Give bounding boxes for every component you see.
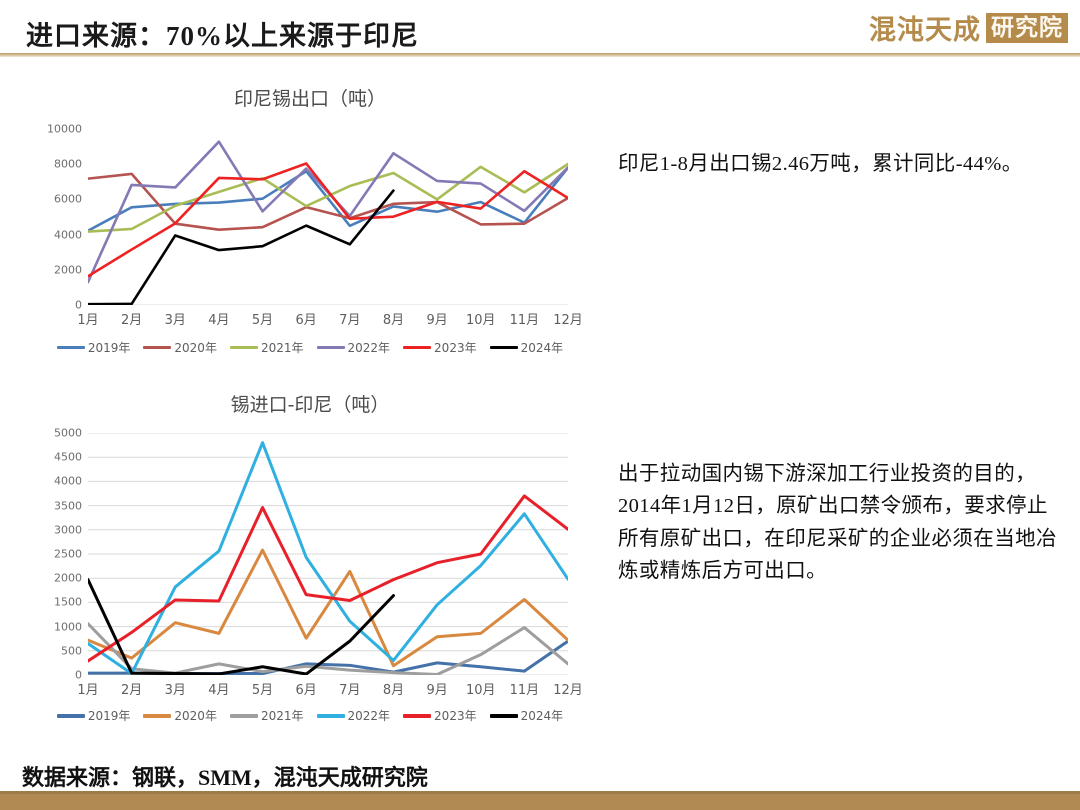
series-line-2020年: [88, 174, 568, 230]
legend-item-2023年[interactable]: 2023年: [403, 339, 477, 356]
x-axis-tick-label: 2月: [121, 305, 142, 328]
legend-item-2022年[interactable]: 2022年: [317, 339, 391, 356]
legend-swatch-icon: [317, 346, 345, 349]
y-axis-tick-label: 1000: [54, 620, 88, 633]
x-axis-tick-label: 7月: [339, 675, 360, 698]
y-axis-tick-label: 500: [61, 644, 88, 657]
x-axis-tick-label: 9月: [426, 675, 447, 698]
commentary-ore-export-ban: 出于拉动国内锡下游深加工行业投资的目的，2014年1月12日，原矿出口禁令颁布，…: [618, 458, 1058, 588]
x-axis-tick-label: 8月: [383, 305, 404, 328]
x-axis-tick-label: 5月: [252, 305, 273, 328]
plot-svg: [88, 129, 568, 305]
x-axis-tick-label: 7月: [339, 305, 360, 328]
y-axis-tick-label: 1500: [54, 596, 88, 609]
x-axis-tick-label: 3月: [165, 675, 186, 698]
x-axis-tick-label: 6月: [296, 305, 317, 328]
legend-swatch-icon: [490, 714, 518, 718]
legend-item-2021年[interactable]: 2021年: [230, 339, 304, 356]
legend-item-2023年[interactable]: 2023年: [403, 707, 477, 724]
chart-title: 印尼锡出口（吨）: [30, 84, 590, 111]
legend-label: 2023年: [434, 339, 477, 356]
legend-swatch-icon: [143, 346, 171, 349]
legend-swatch-icon: [490, 346, 518, 349]
plot-svg: [88, 433, 568, 675]
legend-item-2020年[interactable]: 2020年: [143, 339, 217, 356]
legend-label: 2020年: [174, 707, 217, 724]
x-axis-tick-label: 6月: [296, 675, 317, 698]
chart-title: 锡进口-印尼（吨）: [30, 390, 590, 417]
y-axis-tick-label: 3000: [54, 523, 88, 536]
series-line-2020年: [88, 550, 568, 666]
x-axis-tick-label: 1月: [77, 675, 98, 698]
y-axis-tick-label: 5000: [54, 427, 88, 440]
slide-header: 进口来源：70%以上来源于印尼 混沌天成 研究院: [0, 0, 1080, 56]
slide-root: 进口来源：70%以上来源于印尼 混沌天成 研究院 印尼锡出口（吨） 020004…: [0, 0, 1080, 810]
page-title: 进口来源：70%以上来源于印尼: [26, 14, 419, 53]
legend-label: 2022年: [348, 339, 391, 356]
y-axis-tick-label: 8000: [54, 158, 88, 171]
legend-swatch-icon: [230, 346, 258, 349]
legend-item-2019年[interactable]: 2019年: [57, 339, 131, 356]
legend-swatch-icon: [317, 714, 345, 718]
legend-label: 2024年: [521, 339, 564, 356]
x-axis-tick-label: 9月: [426, 305, 447, 328]
y-axis-tick-label: 3500: [54, 499, 88, 512]
x-axis-tick-label: 12月: [553, 675, 583, 698]
legend-label: 2019年: [88, 707, 131, 724]
commentary-export-summary: 印尼1-8月出口锡2.46万吨，累计同比-44%。: [618, 148, 1048, 180]
legend-item-2019年[interactable]: 2019年: [57, 707, 131, 724]
legend-item-2024年[interactable]: 2024年: [490, 339, 564, 356]
logo-wordmark: 混沌天成: [869, 8, 981, 47]
x-axis-tick-label: 11月: [510, 305, 540, 328]
y-axis-tick-label: 4500: [54, 451, 88, 464]
plot-area: 0500100015002000250030003500400045005000…: [88, 433, 568, 675]
data-source-label: 数据来源：钢联，SMM，混沌天成研究院: [22, 760, 428, 792]
legend-label: 2021年: [261, 339, 304, 356]
legend-item-2020年[interactable]: 2020年: [143, 707, 217, 724]
legend-swatch-icon: [403, 346, 431, 349]
x-axis-tick-label: 1月: [77, 305, 98, 328]
header-divider: [0, 53, 1080, 57]
y-axis-tick-label: 4000: [54, 475, 88, 488]
x-axis-tick-label: 10月: [466, 305, 496, 328]
company-logo: 混沌天成 研究院: [869, 8, 1068, 47]
x-axis-tick-label: 4月: [208, 675, 229, 698]
x-axis-tick-label: 4月: [208, 305, 229, 328]
x-axis-tick-label: 5月: [252, 675, 273, 698]
series-line-2022年: [88, 443, 568, 674]
legend-label: 2019年: [88, 339, 131, 356]
footer-bar-highlight: [0, 791, 1080, 794]
x-axis-tick-label: 8月: [383, 675, 404, 698]
x-axis-tick-label: 10月: [466, 675, 496, 698]
chart-tin-import-indonesia: 锡进口-印尼（吨） 050010001500200025003000350040…: [30, 390, 590, 675]
legend-label: 2020年: [174, 339, 217, 356]
legend-label: 2024年: [521, 707, 564, 724]
legend-swatch-icon: [57, 346, 85, 349]
legend-swatch-icon: [403, 714, 431, 718]
chart-legend: 2019年2020年2021年2022年2023年2024年: [30, 339, 590, 356]
y-axis-tick-label: 2000: [54, 572, 88, 585]
chart-indonesia-tin-export: 印尼锡出口（吨） 02000400060008000100001月2月3月4月5…: [30, 84, 590, 305]
legend-label: 2023年: [434, 707, 477, 724]
legend-label: 2021年: [261, 707, 304, 724]
legend-swatch-icon: [230, 714, 258, 718]
legend-item-2022年[interactable]: 2022年: [317, 707, 391, 724]
y-axis-tick-label: 2000: [54, 263, 88, 276]
x-axis-tick-label: 2月: [121, 675, 142, 698]
x-axis-tick-label: 11月: [510, 675, 540, 698]
plot-area: 02000400060008000100001月2月3月4月5月6月7月8月9月…: [88, 129, 568, 305]
y-axis-tick-label: 2500: [54, 548, 88, 561]
legend-item-2024年[interactable]: 2024年: [490, 707, 564, 724]
legend-item-2021年[interactable]: 2021年: [230, 707, 304, 724]
legend-label: 2022年: [348, 707, 391, 724]
y-axis-tick-label: 4000: [54, 228, 88, 241]
logo-badge-research-institute: 研究院: [986, 13, 1068, 43]
legend-swatch-icon: [143, 714, 171, 718]
y-axis-tick-label: 10000: [47, 123, 88, 136]
y-axis-tick-label: 6000: [54, 193, 88, 206]
x-axis-tick-label: 12月: [553, 305, 583, 328]
legend-swatch-icon: [57, 714, 85, 718]
x-axis-tick-label: 3月: [165, 305, 186, 328]
chart-legend: 2019年2020年2021年2022年2023年2024年: [30, 707, 590, 724]
